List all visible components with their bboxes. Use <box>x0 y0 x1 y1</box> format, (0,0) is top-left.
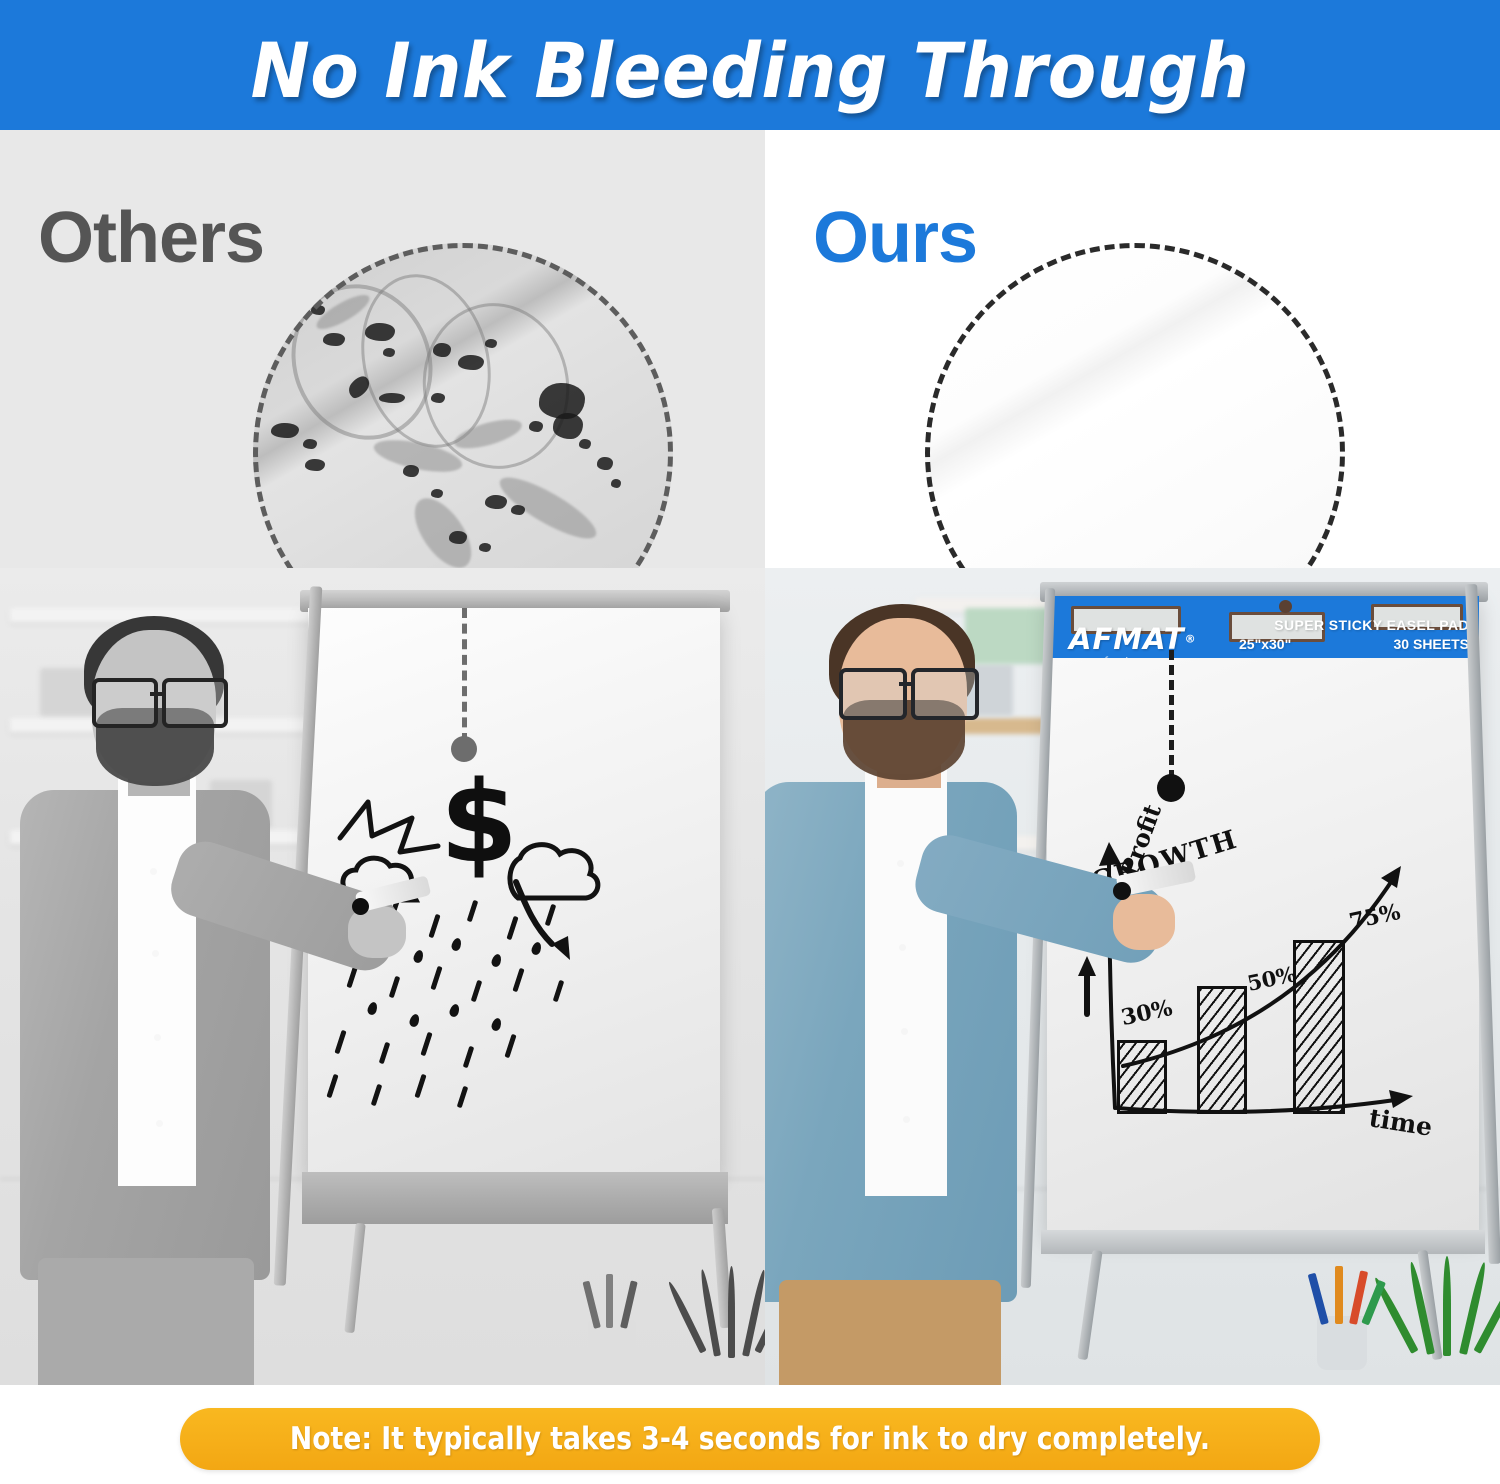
product-name: SUPER STICKY EASEL PAD <box>1239 616 1469 635</box>
brand-website: www.afmat.com <box>1069 656 1196 658</box>
brand-name: AFMAT <box>1069 622 1185 656</box>
photo-others: $ <box>0 568 765 1385</box>
photo-ours: AFMAT® www.afmat.com SUPER STICKY EASEL … <box>765 568 1500 1385</box>
label-others: Others <box>38 202 264 274</box>
connector-dot-left <box>451 736 477 762</box>
label-ours: Ours <box>813 202 977 274</box>
panel-others: Others <box>0 130 765 1385</box>
product-spec-block: SUPER STICKY EASEL PAD 25"x30" 30 SHEETS <box>1239 616 1469 654</box>
product-comparison-image: No Ink Bleeding Through Others <box>0 0 1500 1484</box>
brand-block: AFMAT® www.afmat.com <box>1069 622 1196 658</box>
product-label-header: AFMAT® www.afmat.com SUPER STICKY EASEL … <box>1047 596 1479 658</box>
panel-ours: Ours <box>765 130 1500 1385</box>
note-banner: Note: It typically takes 3-4 seconds for… <box>180 1408 1320 1470</box>
connector-line-left <box>462 608 467 743</box>
product-size: 25"x30" <box>1239 635 1291 654</box>
page-title: No Ink Bleeding Through <box>53 26 1448 115</box>
comparison-area: Others <box>0 130 1500 1385</box>
registered-mark-icon: ® <box>1185 633 1196 646</box>
connector-line-right <box>1169 650 1174 780</box>
product-sheet-count: 30 SHEETS <box>1394 635 1469 654</box>
note-text: Note: It typically takes 3-4 seconds for… <box>290 1421 1210 1457</box>
connector-dot-right <box>1157 774 1185 802</box>
